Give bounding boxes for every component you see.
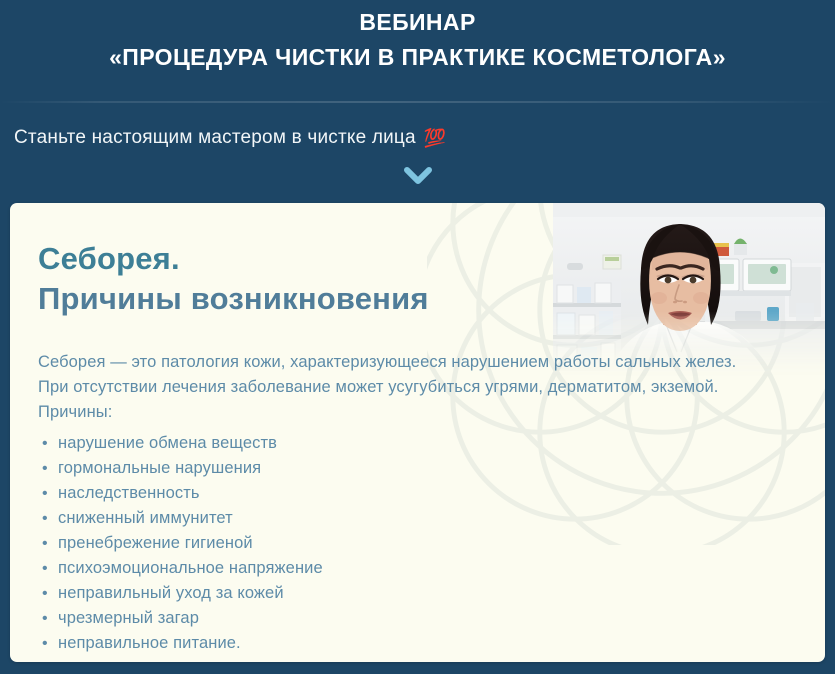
slide-heading: Себорея. Причины возникновения [38,239,429,319]
page-title-line-2: «ПРОЦЕДУРА ЧИСТКИ В ПРАКТИКЕ КОСМЕТОЛОГА… [0,40,835,75]
subtitle-text: Станьте настоящим мастером в чистке лица [14,126,416,150]
subtitle-row: Станьте настоящим мастером в чистке лица… [14,126,446,150]
causes-list: нарушение обмена веществ гормональные на… [42,431,323,656]
list-item: чрезмерный загар [42,606,323,631]
header-divider [0,101,835,103]
list-item: неправильное питание. [42,631,323,656]
paragraph-line: Себорея — это патология кожи, характериз… [38,350,808,375]
paragraph-line: При отсутствии лечения заболевание может… [38,375,808,400]
slide-paragraph: Себорея — это патология кожи, характериз… [38,350,808,425]
chevron-down-icon[interactable] [403,165,433,187]
list-item: наследственность [42,481,323,506]
hundred-points-emoji: 💯 [424,128,446,148]
webinar-page: ВЕБИНАР «ПРОЦЕДУРА ЧИСТКИ В ПРАКТИКЕ КОС… [0,0,835,674]
list-item: неправильный уход за кожей [42,581,323,606]
slide-card: Себорея. Причины возникновения Себорея —… [10,203,825,662]
paragraph-line: Причины: [38,400,808,425]
list-item: нарушение обмена веществ [42,431,323,456]
slide-heading-line-1: Себорея. [38,239,429,279]
page-title-line-1: ВЕБИНАР [0,5,835,40]
list-item: пренебрежение гигиеной [42,531,323,556]
slide-heading-line-2: Причины возникновения [38,279,429,319]
page-header: ВЕБИНАР «ПРОЦЕДУРА ЧИСТКИ В ПРАКТИКЕ КОС… [0,0,835,101]
list-item: гормональные нарушения [42,456,323,481]
list-item: сниженный иммунитет [42,506,323,531]
list-item: психоэмоциональное напряжение [42,556,323,581]
